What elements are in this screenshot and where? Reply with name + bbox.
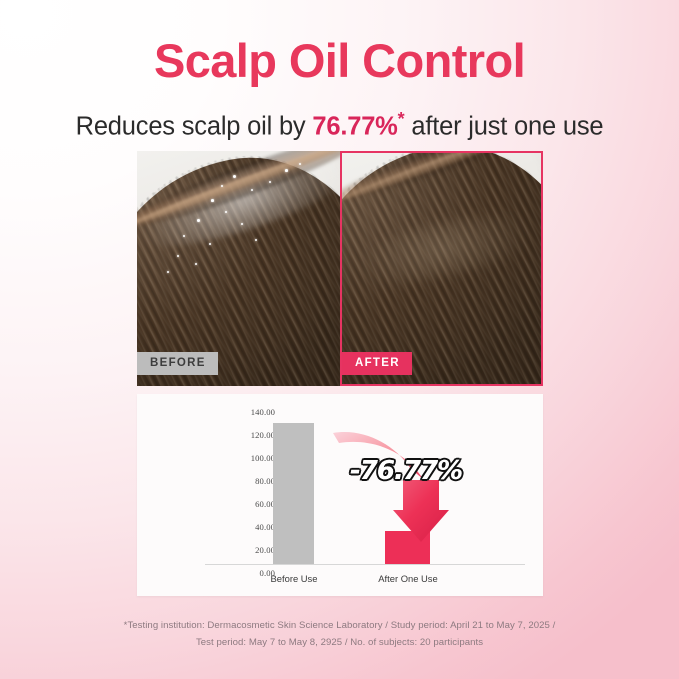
x-axis-label-before: Before Use: [271, 573, 318, 584]
footnote-line-1: *Testing institution: Dermacosmetic Skin…: [0, 617, 679, 634]
after-label: AFTER: [342, 352, 412, 375]
y-axis-tick: 40.00: [195, 522, 275, 532]
delta-percent-label: -76.77%: [350, 456, 462, 486]
y-axis-tick: 20.00: [195, 545, 275, 555]
y-axis-tick: 60.00: [195, 499, 275, 509]
after-photo-panel: AFTER: [340, 151, 543, 386]
bar-before-use: [273, 423, 314, 564]
subtitle-suffix: after just one use: [404, 113, 603, 141]
x-axis-line: [205, 564, 525, 565]
page-title: Scalp Oil Control: [0, 36, 679, 86]
study-footnote: *Testing institution: Dermacosmetic Skin…: [0, 617, 679, 651]
before-after-comparison: BEFORE AFTER: [137, 151, 543, 386]
bar-after-one-use: [385, 531, 430, 564]
y-axis-tick: 120.00: [195, 430, 275, 440]
y-axis-tick: 140.00: [195, 407, 275, 417]
subtitle: Reduces scalp oil by 76.77%* after just …: [0, 104, 679, 142]
oil-reduction-bar-chart: 140.00 120.00 100.00 80.00 60.00 40.00 2…: [137, 394, 543, 596]
promo-poster: Scalp Oil Control Reduces scalp oil by 7…: [0, 0, 679, 679]
before-label: BEFORE: [137, 352, 218, 375]
after-scalp-image: [342, 153, 541, 384]
y-axis-tick: 100.00: [195, 453, 275, 463]
chart-plot-area: 140.00 120.00 100.00 80.00 60.00 40.00 2…: [137, 394, 543, 596]
footnote-line-2: Test period: May 7 to May 8, 2925 / No. …: [0, 634, 679, 651]
x-axis-label-after: After One Use: [378, 573, 437, 584]
subtitle-prefix: Reduces scalp oil by: [76, 113, 313, 141]
subtitle-percent: 76.77%: [312, 113, 397, 141]
before-photo-panel: BEFORE: [137, 151, 340, 386]
y-axis-tick: 0.00: [195, 568, 275, 578]
y-axis-tick: 80.00: [195, 476, 275, 486]
before-scalp-image: [137, 151, 340, 386]
